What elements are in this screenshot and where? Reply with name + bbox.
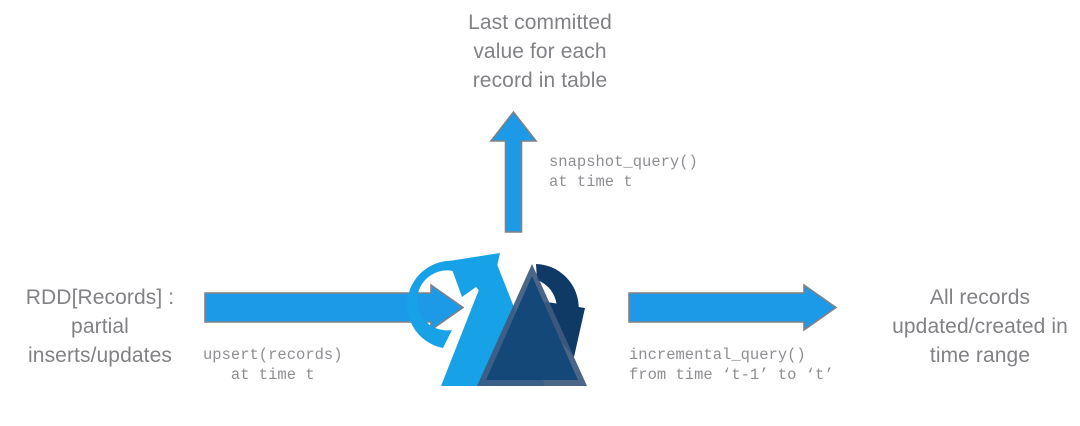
incremental-query-annotation: incremental_query() from time ‘t-1’ to ‘… bbox=[629, 345, 834, 385]
arrow-up-icon bbox=[491, 112, 536, 232]
diagram-canvas: Last committed value for each record in … bbox=[0, 0, 1080, 426]
circular-arrow-ccw-icon bbox=[407, 253, 500, 348]
logo-triangle-navy bbox=[486, 276, 578, 380]
circular-arrow-cw-icon bbox=[534, 264, 585, 357]
snapshot-output-label: Last committed value for each record in … bbox=[395, 8, 685, 95]
incremental-output-label: All records updated/created in time rang… bbox=[880, 283, 1080, 370]
input-records-label: RDD[Records] : partial inserts/updates bbox=[0, 283, 200, 370]
logo-triangle-light bbox=[441, 254, 545, 386]
arrow-right-icon-right bbox=[629, 285, 836, 330]
upsert-annotation: upsert(records) at time t bbox=[203, 345, 343, 385]
snapshot-query-annotation: snapshot_query() at time t bbox=[549, 152, 698, 192]
logo-triangle-slate bbox=[477, 264, 587, 386]
arrow-right-icon-left bbox=[205, 285, 463, 330]
hudi-logo-icon bbox=[407, 253, 587, 386]
